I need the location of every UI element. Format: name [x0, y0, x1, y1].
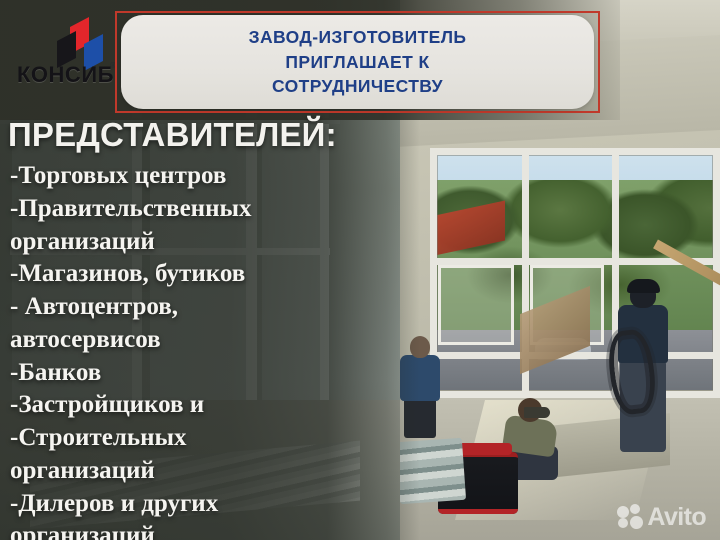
- list-item: -Застройщиков и: [10, 389, 370, 422]
- list-item: -Банков: [10, 357, 370, 390]
- list-item: -Дилеров и других организаций: [10, 488, 370, 540]
- konsib-logo: КОНСИБ ®: [17, 22, 127, 94]
- avito-watermark: Avito: [617, 504, 706, 530]
- category-list: -Торговых центров-Правительственных орга…: [10, 160, 370, 540]
- list-item: -Торговых центров: [10, 160, 370, 193]
- list-item: -Строительных организаций: [10, 422, 370, 488]
- advertisement-poster: КОНСИБ ® ЗАВОД-ИЗГОТОВИТЕЛЬ ПРИГЛАШАЕТ К…: [0, 0, 720, 540]
- list-item: -Правительственных организаций: [10, 193, 370, 259]
- list-item: -Магазинов, бутиков: [10, 258, 370, 291]
- list-item: - Автоцентров, автосервисов: [10, 291, 370, 357]
- avito-wordmark: Avito: [647, 505, 706, 530]
- headline-text: ЗАВОД-ИЗГОТОВИТЕЛЬ ПРИГЛАШАЕТ К СОТРУДНИ…: [249, 25, 467, 100]
- headline-banner: ЗАВОД-ИЗГОТОВИТЕЛЬ ПРИГЛАШАЕТ К СОТРУДНИ…: [121, 15, 594, 109]
- page-title: ПРЕДСТАВИТЕЛЕЙ:: [8, 118, 337, 153]
- avito-logo-icon: [617, 504, 643, 530]
- window-sash: [438, 265, 514, 345]
